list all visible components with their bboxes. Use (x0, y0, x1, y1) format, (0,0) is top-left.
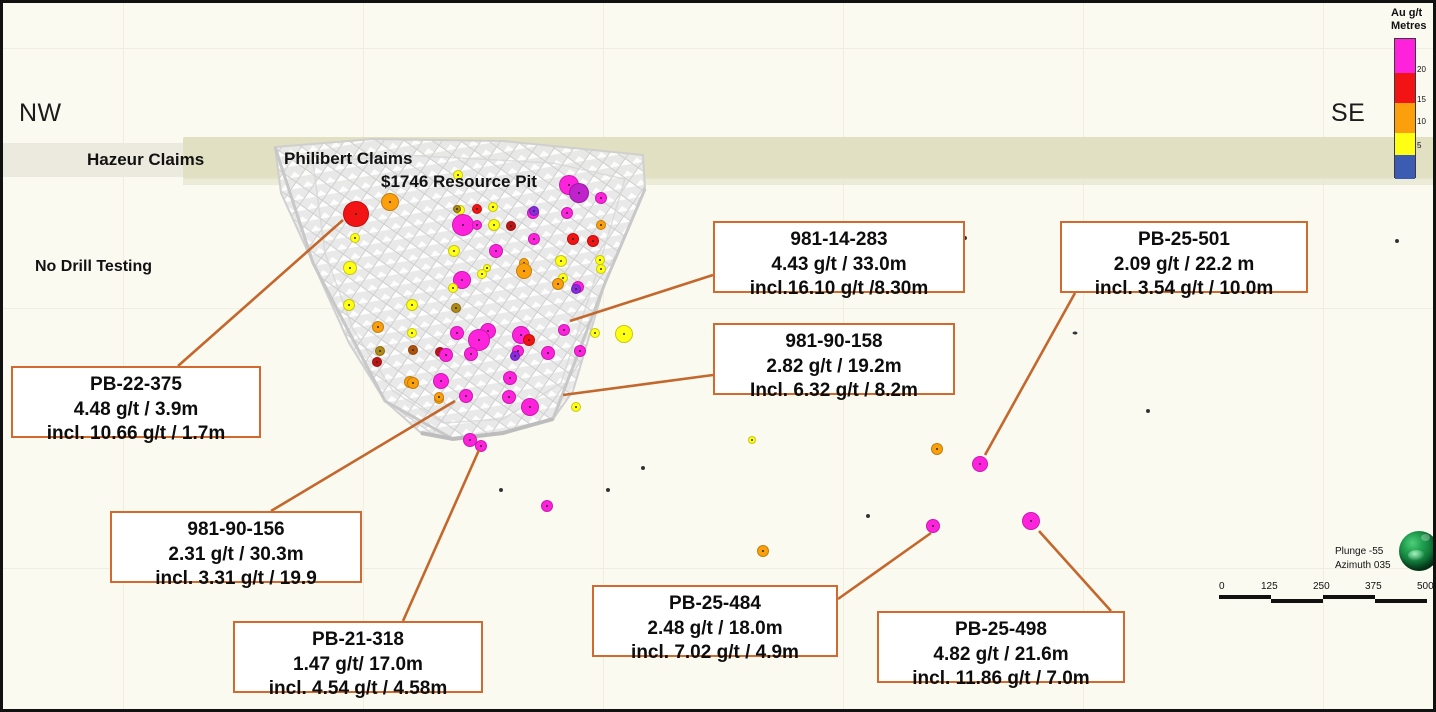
drill-intercept-marker[interactable] (1022, 512, 1040, 530)
leader-line (403, 450, 479, 621)
drill-intercept-marker[interactable] (439, 348, 453, 362)
drill-intercept-marker[interactable] (574, 345, 586, 357)
gridline-horizontal (3, 48, 1433, 49)
drill-intercept-marker[interactable] (506, 221, 516, 231)
drill-intercept-marker[interactable] (433, 373, 449, 389)
rock-speck (641, 466, 645, 470)
legend: Au g/t Metres 2015105 (1387, 7, 1433, 178)
drill-intercept-marker[interactable] (595, 192, 607, 204)
drill-intercept-marker[interactable] (615, 325, 633, 343)
drill-intercept-marker[interactable] (472, 220, 482, 230)
callout-included-interval: incl. 3.31 g/t / 19.9 (122, 567, 350, 592)
drill-intercept-marker[interactable] (571, 402, 581, 412)
callout-hole-id: PB-21-318 (245, 628, 471, 653)
callout-pb-22-375[interactable]: PB-22-3754.48 g/t / 3.9mincl. 10.66 g/t … (11, 366, 261, 438)
drill-intercept-marker[interactable] (596, 264, 606, 274)
gridline-vertical (123, 3, 124, 709)
drill-intercept-marker[interactable] (451, 303, 461, 313)
legend-segment (1395, 133, 1415, 155)
callout-included-interval: incl.16.10 g/t /8.30m (725, 277, 953, 302)
drill-intercept-marker[interactable] (757, 545, 769, 557)
drill-intercept-marker[interactable] (972, 456, 988, 472)
callout-981-14-283[interactable]: 981-14-2834.43 g/t / 33.0mincl.16.10 g/t… (713, 221, 965, 293)
drill-intercept-marker[interactable] (489, 244, 503, 258)
rock-speck (1073, 332, 1078, 335)
callout-included-interval: Incl. 6.32 g/t / 8.2m (725, 379, 943, 404)
drill-intercept-marker[interactable] (372, 357, 382, 367)
callout-interval: 1.47 g/t/ 17.0m (245, 653, 471, 678)
drill-intercept-marker[interactable] (529, 206, 539, 216)
legend-segment (1395, 155, 1415, 179)
leader-line (838, 533, 931, 599)
callout-981-90-158[interactable]: 981-90-1582.82 g/t / 19.2mIncl. 6.32 g/t… (713, 323, 955, 395)
direction-label-se: SE (1331, 99, 1365, 128)
callout-hole-id: PB-25-501 (1072, 228, 1296, 253)
drill-intercept-marker[interactable] (381, 193, 399, 211)
drill-intercept-marker[interactable] (408, 345, 418, 355)
callout-pb-21-318[interactable]: PB-21-3181.47 g/t/ 17.0mincl. 4.54 g/t /… (233, 621, 483, 693)
legend-tick-labels: 2015105 (1417, 7, 1436, 147)
rock-speck (499, 488, 503, 492)
gridline-horizontal (3, 308, 1433, 309)
drill-intercept-marker[interactable] (567, 233, 579, 245)
drill-intercept-marker[interactable] (523, 334, 535, 346)
map-label-no-drill-testing: No Drill Testing (35, 258, 152, 276)
drill-intercept-marker[interactable] (350, 233, 360, 243)
drill-intercept-marker[interactable] (590, 328, 600, 338)
drill-intercept-marker[interactable] (552, 278, 564, 290)
drill-intercept-marker[interactable] (541, 346, 555, 360)
callout-interval: 2.09 g/t / 22.2 m (1072, 253, 1296, 278)
callout-interval: 4.48 g/t / 3.9m (23, 398, 249, 423)
scale-tick-label: 0 (1219, 581, 1225, 592)
drill-intercept-marker[interactable] (561, 207, 573, 219)
leader-line (985, 293, 1075, 455)
callout-interval: 2.48 g/t / 18.0m (604, 617, 826, 642)
drill-intercept-marker[interactable] (931, 443, 943, 455)
drill-intercept-marker[interactable] (569, 183, 589, 203)
drill-intercept-marker[interactable] (528, 233, 540, 245)
drill-intercept-marker[interactable] (475, 440, 487, 452)
scale-tick-label: 250 (1313, 581, 1330, 592)
scale-bar: 0125250375500 (1219, 581, 1429, 604)
callout-interval: 2.82 g/t / 19.2m (725, 355, 943, 380)
drill-intercept-marker[interactable] (503, 371, 517, 385)
map-label-hazeur-claims: Hazeur Claims (87, 150, 204, 170)
callout-hole-id: PB-25-484 (604, 592, 826, 617)
drill-intercept-marker[interactable] (343, 299, 355, 311)
drill-intercept-marker[interactable] (375, 346, 385, 356)
drill-intercept-marker[interactable] (483, 264, 491, 272)
drill-intercept-marker[interactable] (434, 392, 444, 402)
gridline-vertical (1083, 3, 1084, 709)
callout-hole-id: PB-25-498 (889, 618, 1113, 643)
drill-intercept-marker[interactable] (541, 500, 553, 512)
legend-color-bar (1394, 38, 1416, 178)
callout-included-interval: incl. 4.54 g/t / 4.58m (245, 677, 471, 702)
drill-intercept-marker[interactable] (343, 261, 357, 275)
scale-tick-label: 125 (1261, 581, 1278, 592)
drill-intercept-marker[interactable] (488, 202, 498, 212)
callout-included-interval: incl. 3.54 g/t / 10.0m (1072, 277, 1296, 302)
cross-section-viewer: NW SE Hazeur ClaimsPhilibert Claims$1746… (0, 0, 1436, 712)
callout-hole-id: 981-14-283 (725, 228, 953, 253)
rock-speck (1395, 239, 1399, 243)
view-orientation-globe[interactable] (1399, 531, 1436, 571)
legend-tick: 10 (1417, 117, 1426, 126)
scale-tick-label: 375 (1365, 581, 1382, 592)
legend-segment (1395, 39, 1415, 73)
legend-tick: 5 (1417, 141, 1421, 150)
plunge-value: Plunge -55 (1335, 545, 1391, 559)
drill-intercept-marker[interactable] (453, 205, 461, 213)
callout-interval: 2.31 g/t / 30.3m (122, 543, 350, 568)
rock-speck (1146, 409, 1150, 413)
drill-intercept-marker[interactable] (450, 326, 464, 340)
callout-pb-25-498[interactable]: PB-25-4984.82 g/t / 21.6mincl. 11.86 g/t… (877, 611, 1125, 683)
drill-intercept-marker[interactable] (555, 255, 567, 267)
callout-hole-id: 981-90-156 (122, 518, 350, 543)
legend-tick: 20 (1417, 65, 1426, 74)
drill-intercept-marker[interactable] (926, 519, 940, 533)
drill-intercept-marker[interactable] (510, 351, 520, 361)
drill-intercept-marker[interactable] (571, 284, 581, 294)
direction-label-nw: NW (19, 99, 62, 128)
drill-intercept-marker[interactable] (502, 390, 516, 404)
drill-intercept-marker[interactable] (596, 220, 606, 230)
legend-segment (1395, 103, 1415, 133)
drill-intercept-marker[interactable] (407, 328, 417, 338)
drill-intercept-marker[interactable] (558, 324, 570, 336)
azimuth-value: Azimuth 035 (1335, 559, 1391, 573)
callout-included-interval: incl. 10.66 g/t / 1.7m (23, 422, 249, 447)
map-label-resource-pit: $1746 Resource Pit (381, 172, 537, 192)
drill-intercept-marker[interactable] (448, 245, 460, 257)
scale-bar-labels: 0125250375500 (1219, 581, 1429, 594)
drill-intercept-marker[interactable] (452, 214, 474, 236)
legend-segment (1395, 73, 1415, 103)
drill-intercept-marker[interactable] (488, 219, 500, 231)
drill-intercept-marker[interactable] (516, 263, 532, 279)
callout-included-interval: incl. 11.86 g/t / 7.0m (889, 667, 1113, 692)
callout-pb-25-501[interactable]: PB-25-5012.09 g/t / 22.2 mincl. 3.54 g/t… (1060, 221, 1308, 293)
drill-intercept-marker[interactable] (372, 321, 384, 333)
drill-intercept-marker[interactable] (343, 201, 369, 227)
orientation-readout: Plunge -55 Azimuth 035 (1335, 545, 1391, 572)
rock-speck (866, 514, 870, 518)
drill-intercept-marker[interactable] (459, 389, 473, 403)
callout-interval: 4.43 g/t / 33.0m (725, 253, 953, 278)
drill-intercept-marker[interactable] (587, 235, 599, 247)
callout-included-interval: incl. 7.02 g/t / 4.9m (604, 641, 826, 666)
callout-hole-id: PB-22-375 (23, 373, 249, 398)
callout-pb-25-484[interactable]: PB-25-4842.48 g/t / 18.0mincl. 7.02 g/t … (592, 585, 838, 657)
scale-bar-segments (1219, 595, 1429, 604)
callout-interval: 4.82 g/t / 21.6m (889, 643, 1113, 668)
legend-tick: 15 (1417, 95, 1426, 104)
drill-intercept-marker[interactable] (464, 347, 478, 361)
drill-intercept-marker[interactable] (407, 377, 419, 389)
drill-intercept-marker[interactable] (521, 398, 539, 416)
drill-intercept-marker[interactable] (748, 436, 756, 444)
drill-intercept-marker[interactable] (448, 283, 458, 293)
callout-hole-id: 981-90-158 (725, 330, 943, 355)
map-label-philibert-claims: Philibert Claims (284, 149, 412, 169)
scale-tick-label: 500 (1417, 581, 1434, 592)
rock-speck (606, 488, 610, 492)
drill-intercept-marker[interactable] (472, 204, 482, 214)
leader-line (1039, 531, 1111, 611)
drill-intercept-marker[interactable] (406, 299, 418, 311)
callout-981-90-156[interactable]: 981-90-1562.31 g/t / 30.3mincl. 3.31 g/t… (110, 511, 362, 583)
